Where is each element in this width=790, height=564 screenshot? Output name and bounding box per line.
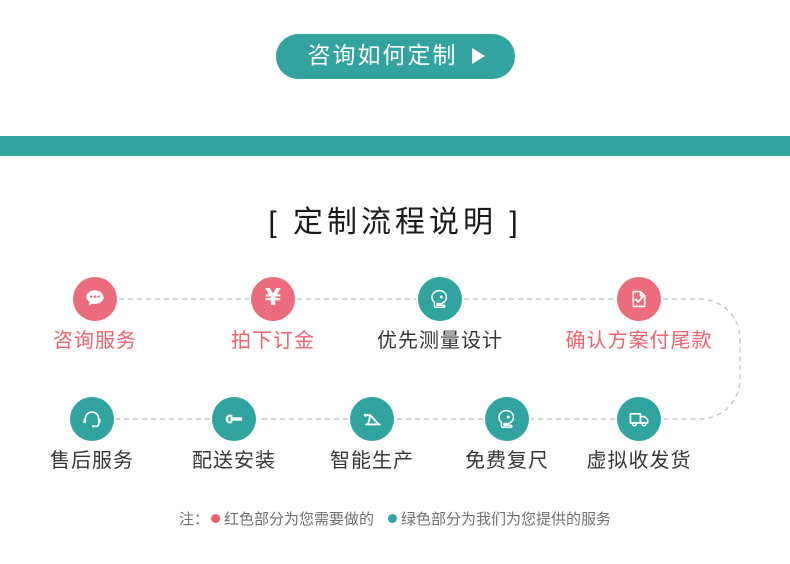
flow-node-label: 智能生产: [297, 447, 447, 475]
flow-node-place-deposit[interactable]: ¥ 拍下订金: [198, 277, 348, 355]
delivery-truck-icon: [617, 397, 661, 441]
flow-node-label: 虚拟收发货: [564, 447, 714, 475]
flow-node-label: 售后服务: [17, 447, 167, 475]
flow-node-consult-service[interactable]: 咨询服务: [20, 277, 170, 355]
page-title: [ 定制流程说明 ]: [0, 203, 790, 243]
flow-node-virtual-shipping[interactable]: 虚拟收发货: [564, 397, 714, 475]
checklist-icon: [617, 277, 661, 321]
flow-node-smart-production[interactable]: 智能生产: [297, 397, 447, 475]
legend-dot-green: [388, 514, 397, 523]
tape-measure-icon: [485, 397, 529, 441]
wrench-icon: [212, 397, 256, 441]
tape-measure-icon: [418, 277, 462, 321]
flow-node-confirm-pay-balance[interactable]: 确认方案付尾款: [564, 277, 714, 355]
legend-red-text: 红色部分为您需要做的: [224, 511, 374, 528]
flow-node-label: 咨询服务: [20, 327, 170, 355]
robot-arm-icon: [350, 397, 394, 441]
chat-bubble-icon: [73, 277, 117, 321]
flow-node-label: 确认方案付尾款: [564, 327, 714, 355]
flow-node-label: 优先测量设计: [365, 327, 515, 355]
flow-node-priority-measure-design[interactable]: 优先测量设计: [365, 277, 515, 355]
yen-currency-icon: ¥: [251, 277, 295, 321]
customization-flow-diagram: 咨询服务 ¥ 拍下订金 优先测量设计 确认方案付尾款: [0, 260, 790, 490]
legend-note: 注：红色部分为您需要做的绿色部分为我们为您提供的服务: [0, 508, 790, 532]
cta-banner: 咨询如何定制: [0, 34, 790, 79]
note-prefix: 注：: [179, 511, 209, 528]
legend-dot-red: [211, 514, 220, 523]
teal-divider-band: [0, 136, 790, 156]
flow-node-label: 配送安装: [159, 447, 309, 475]
headset-icon: [70, 397, 114, 441]
consult-customization-button[interactable]: 咨询如何定制: [276, 34, 515, 79]
play-triangle-icon: [472, 48, 485, 64]
cta-button-label: 咨询如何定制: [308, 44, 458, 67]
flow-node-free-remeasure[interactable]: 免费复尺: [432, 397, 582, 475]
flow-node-label: 拍下订金: [198, 327, 348, 355]
flow-node-after-sales-service[interactable]: 售后服务: [17, 397, 167, 475]
flow-node-label: 免费复尺: [432, 447, 582, 475]
flow-node-delivery-installation[interactable]: 配送安装: [159, 397, 309, 475]
legend-green-text: 绿色部分为我们为您提供的服务: [401, 511, 611, 528]
